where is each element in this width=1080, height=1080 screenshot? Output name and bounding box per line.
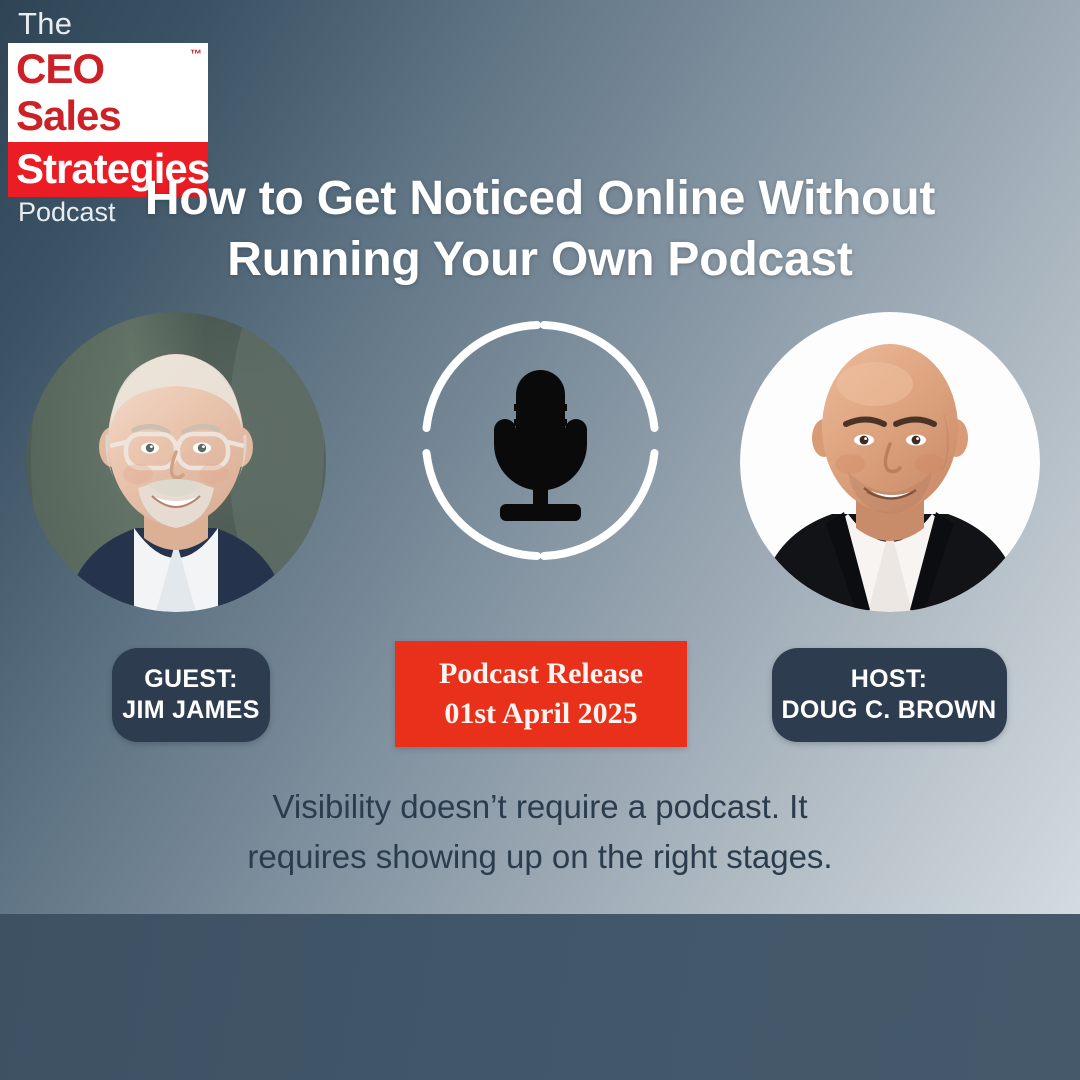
host-name: DOUG C. BROWN	[782, 695, 997, 726]
release-date: 01st April 2025	[401, 694, 681, 734]
microphone-emblem	[418, 318, 663, 563]
host-portrait-image	[740, 312, 1040, 612]
host-pill: HOST: DOUG C. BROWN	[772, 648, 1007, 742]
guest-pill: GUEST: JIM JAMES	[112, 648, 269, 742]
guest-avatar	[26, 312, 326, 612]
episode-quote-line-2: requires showing up on the right stages.	[150, 832, 930, 882]
trademark-icon: ™	[190, 47, 202, 61]
podcast-episode-card: The CEO Sales ™ Strategies Podcast How t…	[0, 0, 1080, 1080]
bottom-bar	[0, 914, 1080, 1080]
episode-title-line-1: How to Get Noticed Online Without	[60, 168, 1020, 229]
guest-name-badge: GUEST: JIM JAMES	[36, 648, 346, 742]
episode-quote: Visibility doesn’t require a podcast. It…	[150, 782, 930, 882]
participants-row	[0, 312, 1080, 612]
release-label: Podcast Release	[401, 654, 681, 694]
logo-the-text: The	[8, 8, 208, 41]
microphone-icon	[494, 370, 587, 521]
guest-name: JIM JAMES	[122, 695, 259, 726]
logo-ceo-sales-text: CEO Sales	[16, 45, 200, 139]
logo-ceo-sales-box: CEO Sales ™	[8, 43, 208, 142]
host-avatar	[740, 312, 1040, 612]
host-name-badge: HOST: DOUG C. BROWN	[734, 648, 1044, 742]
episode-quote-line-1: Visibility doesn’t require a podcast. It	[150, 782, 930, 832]
episode-title-line-2: Running Your Own Podcast	[60, 229, 1020, 290]
episode-title: How to Get Noticed Online Without Runnin…	[60, 168, 1020, 291]
guest-portrait-image	[26, 312, 326, 612]
guest-role-label: GUEST:	[122, 664, 259, 695]
host-role-label: HOST:	[782, 664, 997, 695]
release-date-badge: Podcast Release 01st April 2025	[395, 641, 687, 747]
